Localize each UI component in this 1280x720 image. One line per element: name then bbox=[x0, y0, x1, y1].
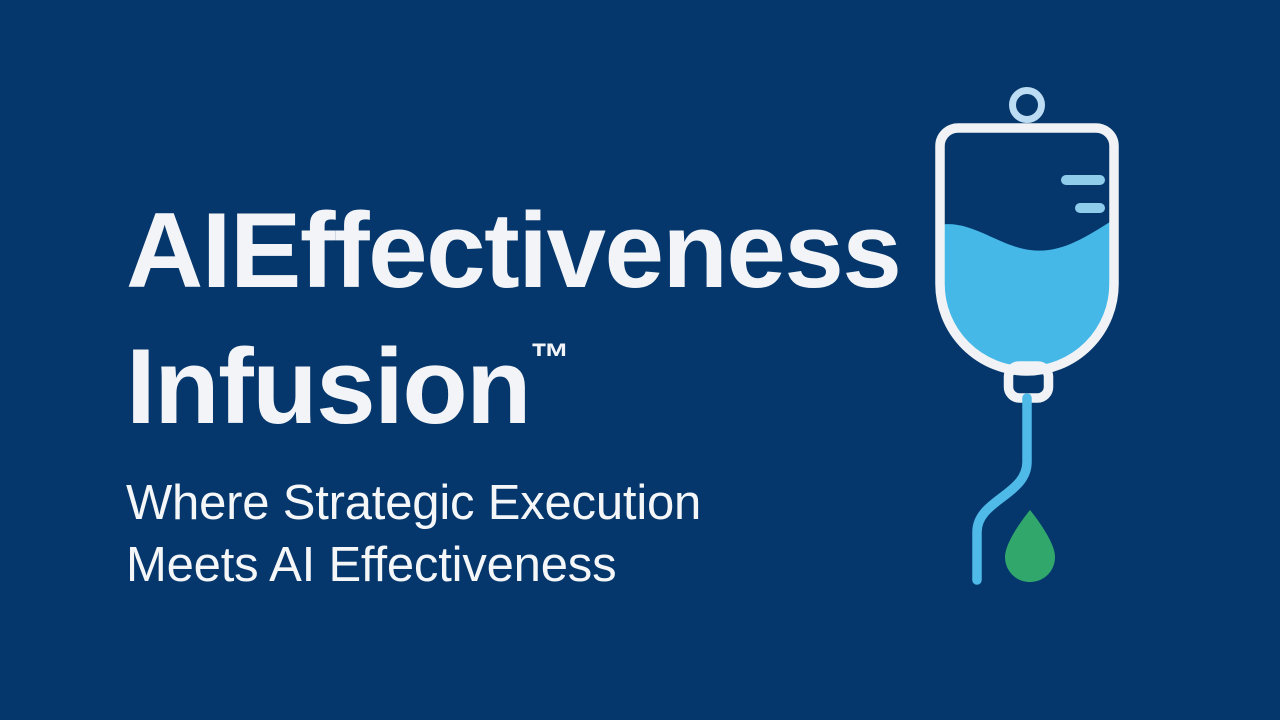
graduation-mark-short bbox=[1075, 203, 1105, 213]
droplet-icon bbox=[1005, 510, 1055, 582]
slide-canvas: AIEffectiveness Infusion™ Where Strategi… bbox=[0, 0, 1280, 720]
text-block: AIEffectiveness Infusion™ Where Strategi… bbox=[126, 196, 946, 596]
graduation-mark-long bbox=[1061, 175, 1105, 185]
trademark-symbol: ™ bbox=[530, 336, 570, 380]
page-subtitle: Where Strategic Execution Meets AI Effec… bbox=[126, 440, 946, 596]
headline-text: AIEffectiveness Infusion bbox=[126, 190, 900, 446]
hanger-ring-icon bbox=[1013, 91, 1042, 120]
page-title: AIEffectiveness Infusion™ bbox=[126, 196, 946, 440]
iv-infusion-bag-illustration bbox=[900, 70, 1160, 610]
